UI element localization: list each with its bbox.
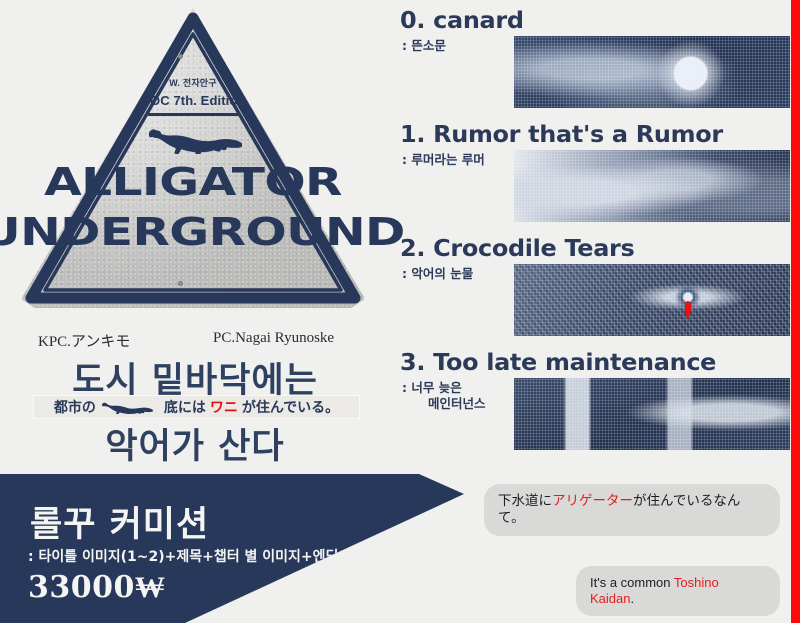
chapter-heading: 0. canard [400, 8, 800, 34]
japanese-tagline-band: 都市の 底には ワニ が住んでいる。 [34, 396, 359, 418]
alligator-icon [144, 124, 242, 154]
sign-title-line2: UNDERGROUND [0, 210, 430, 254]
chapter-item-3: 3. Too late maintenance : 너무 늦은 메인터넌스 [400, 350, 790, 464]
chat-bubble-1: 下水道にアリゲーターが住んでいるなんて。 [484, 484, 780, 536]
chapter-item-1: 1. Rumor that's a Rumor : 루머라는 루머 [400, 122, 790, 236]
jp-tagline-part3: が住んでいる。 [242, 397, 339, 417]
chapter-heading: 2. Crocodile Tears [400, 236, 800, 262]
right-red-accent-bar [791, 0, 800, 623]
commission-panel: 롤꾸 커미션 : 타이틀 이미지(1~2)+제목+챕터 별 이미지+엔딩 이미지… [0, 474, 480, 623]
chat-2-post: . [630, 591, 634, 606]
jp-tagline-part1: 都市の [54, 397, 96, 417]
kpc-credit: KPC.アンキモ [38, 330, 130, 351]
chat-1-highlight: アリゲーター [552, 493, 633, 509]
chapter-item-0: 0. canard : 뜬소문 [400, 8, 790, 122]
chat-bubbles: 下水道にアリゲーターが住んでいるなんて。 It's a common Toshi… [480, 484, 780, 616]
alligator-inline-icon [100, 400, 160, 414]
alligator-warning-sign: W. 전자안구 COC 7th. Edition ALLIGATOR UNDER… [8, 2, 378, 320]
chapter-subtitle: : 너무 늦은 메인터넌스 [402, 380, 512, 412]
jp-tagline-highlight: ワニ [210, 397, 238, 417]
chat-1-pre: 下水道に [498, 493, 552, 509]
screw-bottom [178, 281, 183, 286]
sign-author-label: W. 전자안구 [8, 76, 378, 89]
chapter-subtitle: : 뜬소문 [402, 38, 512, 54]
commission-description: : 타이틀 이미지(1~2)+제목+챕터 별 이미지+엔딩 이미지(1) [28, 546, 404, 566]
pc-credit: PC.Nagai Ryunoske [213, 330, 334, 347]
chapter-image-pipes-and-wrench [514, 378, 790, 450]
chapter-subtitle-line1: : 너무 늦은 [402, 380, 462, 395]
screw-top [178, 54, 183, 59]
chapter-heading: 1. Rumor that's a Rumor [400, 122, 800, 148]
sign-edition-label: COC 7th. Edition [8, 93, 378, 108]
chapter-subtitle-line2: 메인터넌스 [402, 396, 512, 412]
commission-title: 롤꾸 커미션 [30, 496, 209, 547]
credits-row: KPC.アンキモ PC.Nagai Ryunoske [0, 330, 390, 352]
chat-2-pre: It's a common [590, 575, 674, 590]
chat-bubble-2: It's a common Toshino Kaidan. [576, 566, 780, 617]
jp-tagline-part2: 底には [164, 397, 206, 417]
commission-price: 33000₩ [28, 570, 165, 605]
chapter-image-two-women-whispering [514, 150, 790, 222]
sign-divider [148, 113, 238, 116]
chapter-item-2: 2. Crocodile Tears : 악어의 눈물 [400, 236, 790, 350]
chapter-image-crocodile-eye [514, 264, 790, 336]
chapter-image-moon-and-clouds [514, 36, 790, 108]
chapter-subtitle: : 악어의 눈물 [402, 266, 512, 282]
chapter-list: 0. canard : 뜬소문 1. Rumor that's a Rumor … [400, 8, 790, 464]
chapter-heading: 3. Too late maintenance [400, 350, 800, 376]
sign-title-line1: ALLIGATOR [0, 160, 430, 204]
korean-title-line2: 악어가 산다 [0, 418, 390, 469]
